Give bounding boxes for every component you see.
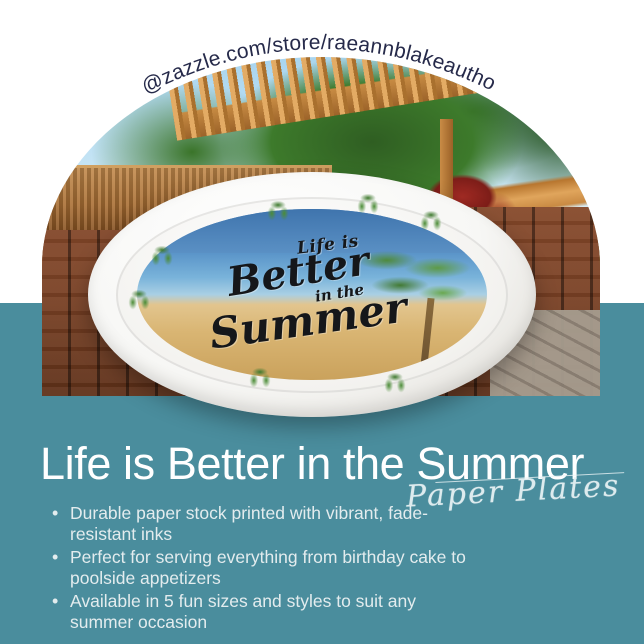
ivy-leaf-icon [151,246,173,266]
store-url-arc[interactable]: @zazzle.com/store/raeannblakeauthor [0,0,644,120]
store-url-text: @zazzle.com/store/raeannblakeauthor [0,0,499,98]
paper-plate: Life is Better in the Summer [88,172,536,417]
list-item: Perfect for serving everything from birt… [70,547,470,588]
plate-artwork-text: Life is Better in the Summer [88,172,536,417]
list-item: Available in 5 fun sizes and styles to s… [70,591,470,632]
promo-card: Life is Better in the Summer @zazzle.com… [0,0,644,644]
ivy-leaf-icon [384,373,406,393]
ivy-leaf-icon [357,194,379,214]
ivy-leaf-icon [249,368,271,388]
ivy-leaf-icon [128,290,150,310]
feature-bullet-list: Durable paper stock printed with vibrant… [44,503,470,635]
store-url-textpath: @zazzle.com/store/raeannblakeauthor [0,0,499,98]
ivy-leaf-icon [420,211,442,231]
ivy-leaf-icon [267,201,289,221]
